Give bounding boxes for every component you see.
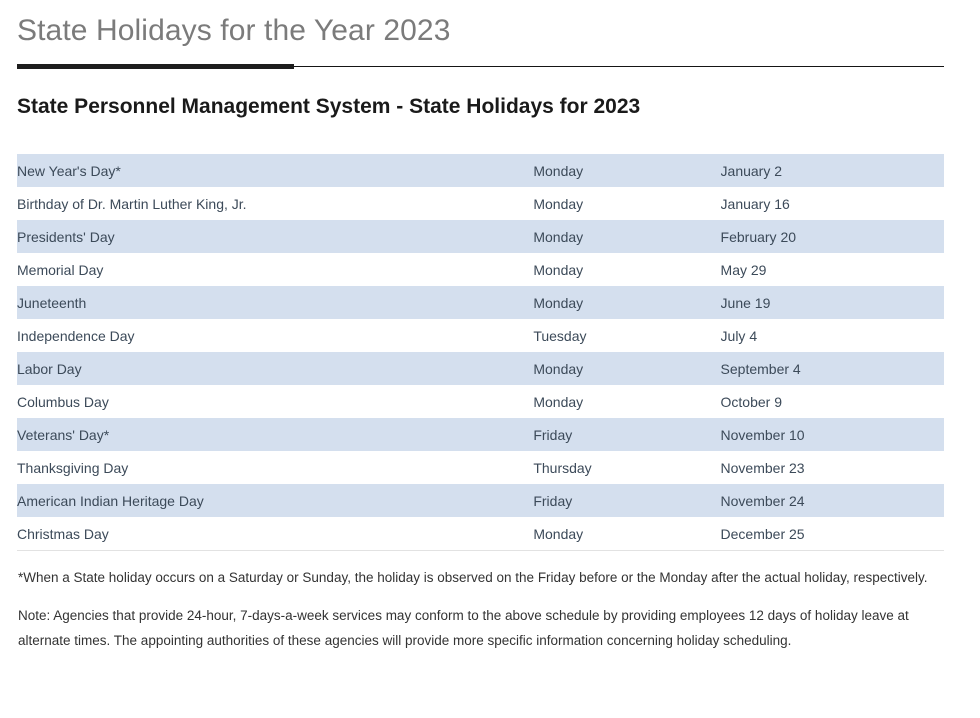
holiday-day-cell: Monday <box>533 253 720 286</box>
holiday-day-cell: Monday <box>533 154 720 187</box>
holiday-date-cell: December 25 <box>721 517 944 551</box>
table-row: Labor DayMondaySeptember 4 <box>17 352 944 385</box>
holiday-name-cell: American Indian Heritage Day <box>17 484 533 517</box>
holiday-name-cell: Thanksgiving Day <box>17 451 533 484</box>
holiday-table-body: New Year's Day*MondayJanuary 2Birthday o… <box>17 154 944 551</box>
footnote-observance: *When a State holiday occurs on a Saturd… <box>18 565 948 590</box>
holiday-date-cell: November 10 <box>721 418 944 451</box>
holiday-name-cell: Columbus Day <box>17 385 533 418</box>
holiday-table-container: New Year's Day*MondayJanuary 2Birthday o… <box>17 154 944 551</box>
holiday-date-cell: October 9 <box>721 385 944 418</box>
holiday-name-cell: Christmas Day <box>17 517 533 551</box>
holiday-date-cell: February 20 <box>721 220 944 253</box>
table-row: Birthday of Dr. Martin Luther King, Jr.M… <box>17 187 944 220</box>
page-title: State Holidays for the Year 2023 <box>17 10 980 52</box>
holiday-date-cell: November 24 <box>721 484 944 517</box>
holiday-name-cell: Presidents' Day <box>17 220 533 253</box>
table-row: Presidents' DayMondayFebruary 20 <box>17 220 944 253</box>
holiday-name-cell: Memorial Day <box>17 253 533 286</box>
holiday-day-cell: Monday <box>533 385 720 418</box>
section-heading: State Personnel Management System - Stat… <box>0 70 980 122</box>
holiday-day-cell: Monday <box>533 517 720 551</box>
holiday-name-cell: Labor Day <box>17 352 533 385</box>
holiday-schedule-page: State Holidays for the Year 2023 State P… <box>0 0 980 718</box>
holiday-name-cell: Veterans' Day* <box>17 418 533 451</box>
title-divider <box>17 64 944 70</box>
title-divider-accent <box>17 64 294 69</box>
holiday-day-cell: Friday <box>533 484 720 517</box>
table-row: Thanksgiving DayThursdayNovember 23 <box>17 451 944 484</box>
holiday-name-cell: Birthday of Dr. Martin Luther King, Jr. <box>17 187 533 220</box>
table-row: Christmas DayMondayDecember 25 <box>17 517 944 551</box>
holiday-date-cell: September 4 <box>721 352 944 385</box>
table-row: Independence DayTuesdayJuly 4 <box>17 319 944 352</box>
holiday-date-cell: May 29 <box>721 253 944 286</box>
holiday-day-cell: Thursday <box>533 451 720 484</box>
holiday-name-cell: New Year's Day* <box>17 154 533 187</box>
table-row: New Year's Day*MondayJanuary 2 <box>17 154 944 187</box>
holiday-date-cell: June 19 <box>721 286 944 319</box>
holiday-date-cell: July 4 <box>721 319 944 352</box>
table-row: American Indian Heritage DayFridayNovemb… <box>17 484 944 517</box>
holiday-date-cell: November 23 <box>721 451 944 484</box>
page-header: State Holidays for the Year 2023 <box>0 0 980 52</box>
holiday-table: New Year's Day*MondayJanuary 2Birthday o… <box>17 154 944 551</box>
holiday-day-cell: Monday <box>533 187 720 220</box>
holiday-day-cell: Monday <box>533 286 720 319</box>
footnote-agency-note: Note: Agencies that provide 24-hour, 7-d… <box>18 603 948 653</box>
table-row: Veterans' Day*FridayNovember 10 <box>17 418 944 451</box>
table-row: Columbus DayMondayOctober 9 <box>17 385 944 418</box>
table-row: JuneteenthMondayJune 19 <box>17 286 944 319</box>
holiday-name-cell: Juneteenth <box>17 286 533 319</box>
footnotes: *When a State holiday occurs on a Saturd… <box>0 551 948 653</box>
table-row: Memorial DayMondayMay 29 <box>17 253 944 286</box>
holiday-day-cell: Monday <box>533 220 720 253</box>
holiday-name-cell: Independence Day <box>17 319 533 352</box>
holiday-date-cell: January 2 <box>721 154 944 187</box>
holiday-day-cell: Monday <box>533 352 720 385</box>
holiday-day-cell: Friday <box>533 418 720 451</box>
holiday-day-cell: Tuesday <box>533 319 720 352</box>
holiday-date-cell: January 16 <box>721 187 944 220</box>
